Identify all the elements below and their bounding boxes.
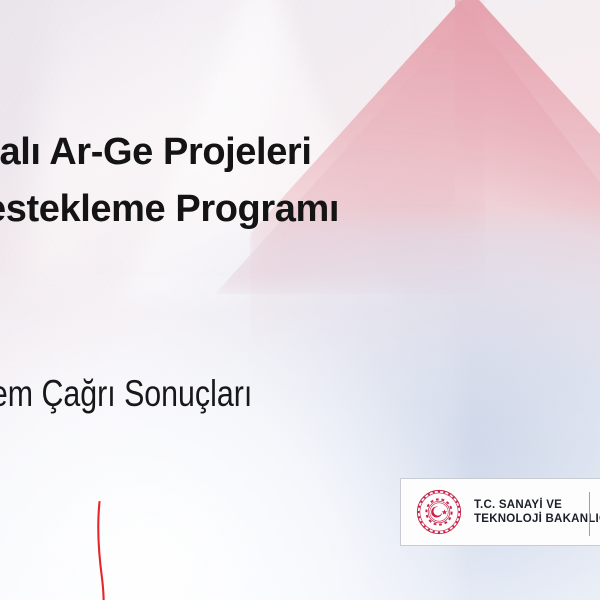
- background-white-pool: [0, 280, 460, 600]
- slide-title: ayalı Ar-Ge Projeleri Destekleme Program…: [0, 124, 478, 238]
- slide-subtitle: nem Çağrı Sonuçları: [0, 372, 252, 416]
- presentation-slide: ayalı Ar-Ge Projeleri Destekleme Program…: [0, 0, 600, 600]
- logo-vertical-divider: [589, 492, 590, 536]
- ministry-logo-text-line-1: T.C. SANAYİ VE: [474, 498, 600, 513]
- ministry-logo-card: T.C. SANAYİ VE TEKNOLOJİ BAKANLIĞI: [400, 478, 600, 546]
- slide-title-line-1: ayalı Ar-Ge Projeleri: [0, 124, 478, 181]
- turkiye-ministry-emblem-icon: [416, 489, 462, 535]
- ministry-logo-text: T.C. SANAYİ VE TEKNOLOJİ BAKANLIĞI: [474, 498, 600, 527]
- slide-title-line-2: Destekleme Programı: [0, 181, 478, 238]
- ministry-logo-text-line-2: TEKNOLOJİ BAKANLIĞI: [474, 512, 600, 527]
